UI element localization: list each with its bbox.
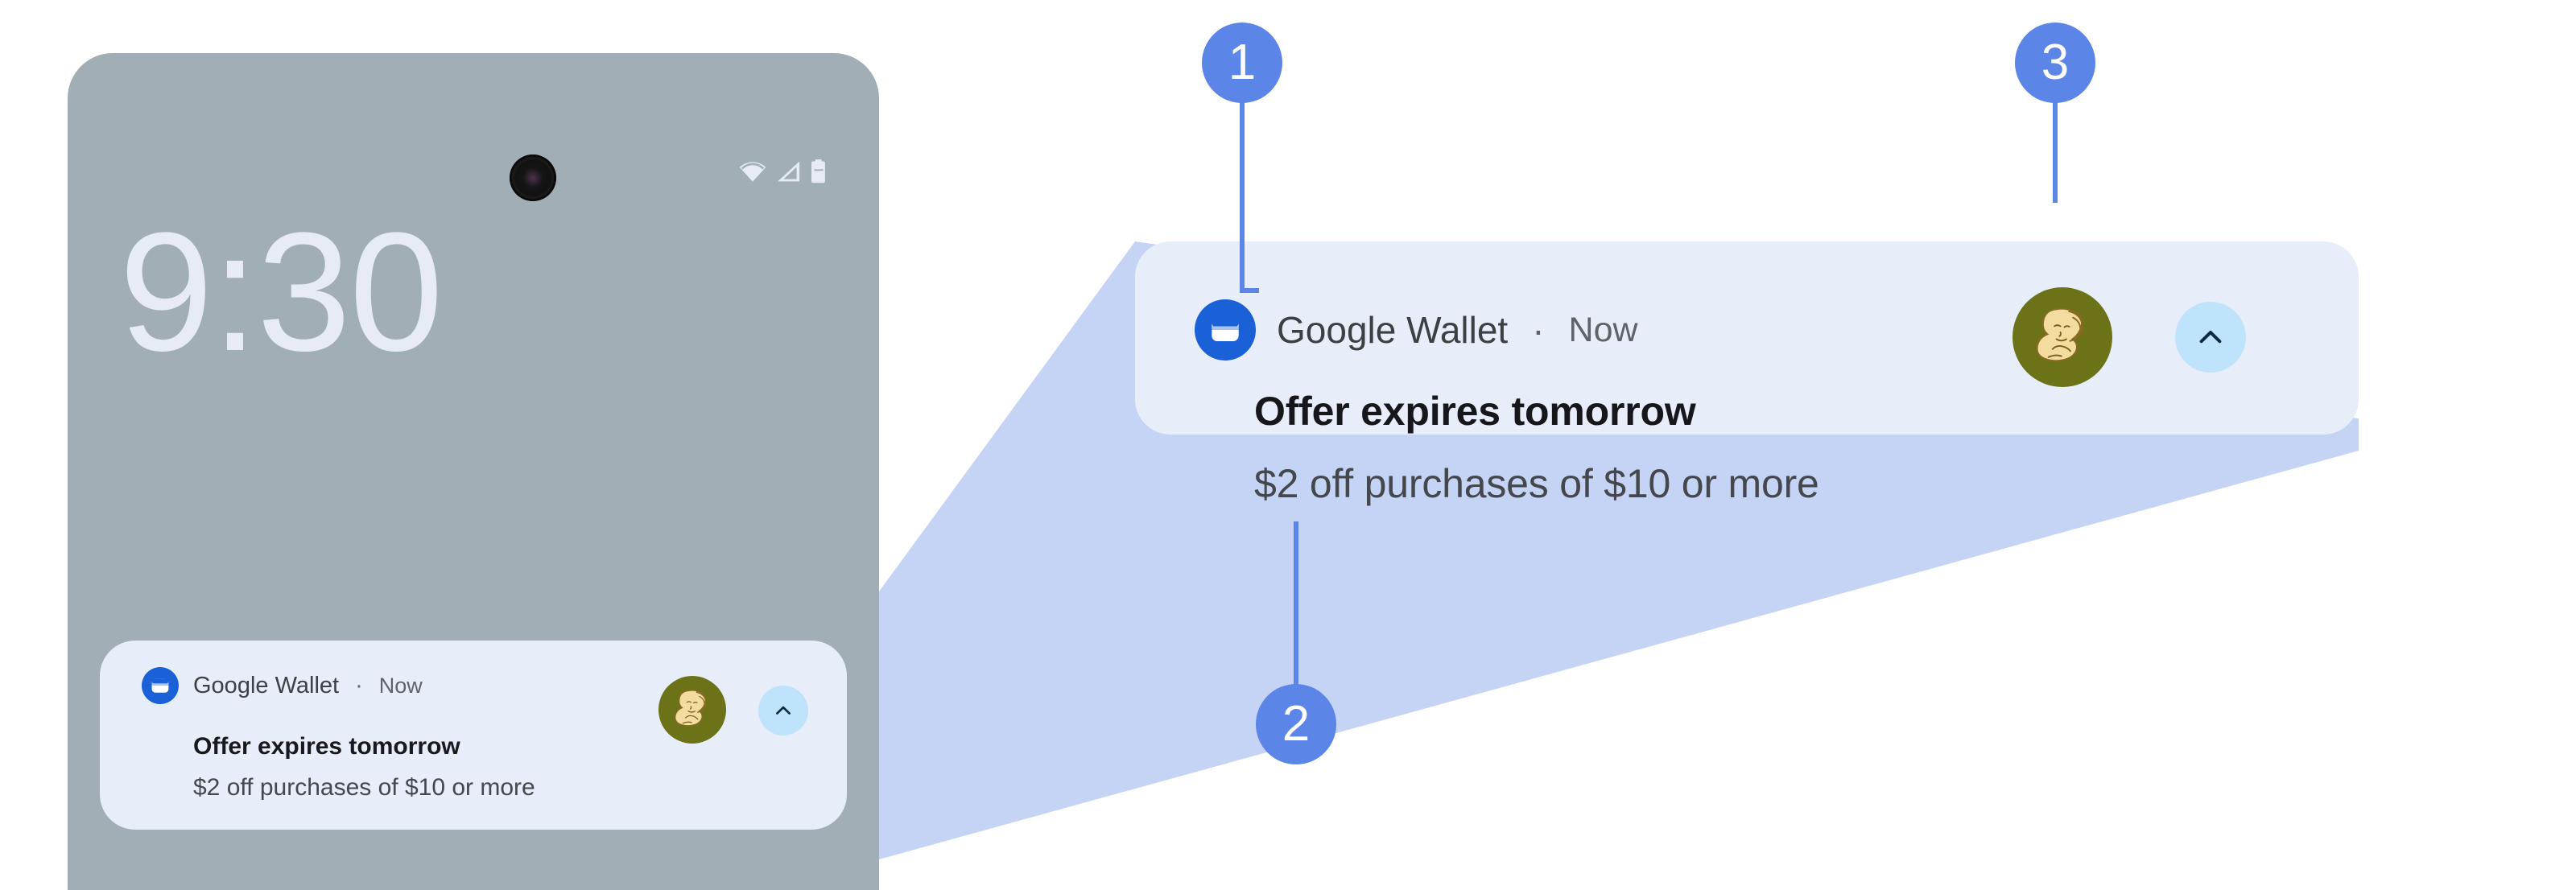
notification-expand-button[interactable] [2175, 302, 2246, 373]
notification-subtitle: $2 off purchases of $10 or more [193, 774, 535, 801]
phone-device-frame: 9:30 Google Wallet · Now Offer expires t… [68, 53, 879, 890]
chevron-up-icon [2194, 320, 2227, 354]
notification-title: Offer expires tomorrow [193, 733, 460, 760]
cellular-signal-icon [776, 159, 802, 183]
callout-marker-2: 2 [1256, 684, 1336, 764]
notification-card-small[interactable]: Google Wallet · Now Offer expires tomorr… [100, 641, 847, 830]
merchant-logo-avatar [2013, 287, 2112, 387]
notification-separator: · [1529, 308, 1547, 352]
callout-number: 3 [2015, 23, 2095, 103]
front-camera-punchhole-icon [510, 155, 556, 201]
callout-stem [1294, 521, 1298, 687]
notification-header-small: Google Wallet · Now [142, 667, 423, 704]
lockscreen-clock: 9:30 [119, 208, 442, 377]
merchant-logo-avatar [658, 676, 726, 744]
google-wallet-icon [142, 667, 179, 704]
callout-marker-1: 1 [1202, 23, 1282, 103]
notification-timestamp: Now [379, 674, 423, 698]
notification-timestamp: Now [1569, 311, 1638, 350]
notification-expand-button[interactable] [758, 686, 808, 735]
notification-app-name: Google Wallet [193, 673, 339, 699]
notification-subtitle: $2 off purchases of $10 or more [1254, 460, 1819, 507]
chevron-up-icon [772, 699, 795, 722]
battery-icon [810, 159, 828, 184]
callout-number: 2 [1256, 684, 1336, 764]
notification-header-zoomed: Google Wallet · Now [1195, 299, 1638, 361]
notification-card-zoomed[interactable]: Google Wallet · Now Offer expires tomorr… [1135, 241, 2359, 435]
callout-number: 1 [1202, 23, 1282, 103]
callout-elbow [1240, 288, 1259, 293]
phone-status-bar [68, 53, 879, 174]
status-bar-icons [737, 159, 828, 184]
callout-stem [2053, 100, 2058, 203]
notification-separator: · [353, 673, 365, 699]
notification-title: Offer expires tomorrow [1254, 388, 1696, 435]
callout-stem [1240, 100, 1245, 293]
notification-app-name: Google Wallet [1277, 308, 1508, 352]
callout-marker-3: 3 [2015, 23, 2095, 103]
wifi-icon [737, 159, 768, 183]
google-wallet-icon [1195, 299, 1256, 361]
